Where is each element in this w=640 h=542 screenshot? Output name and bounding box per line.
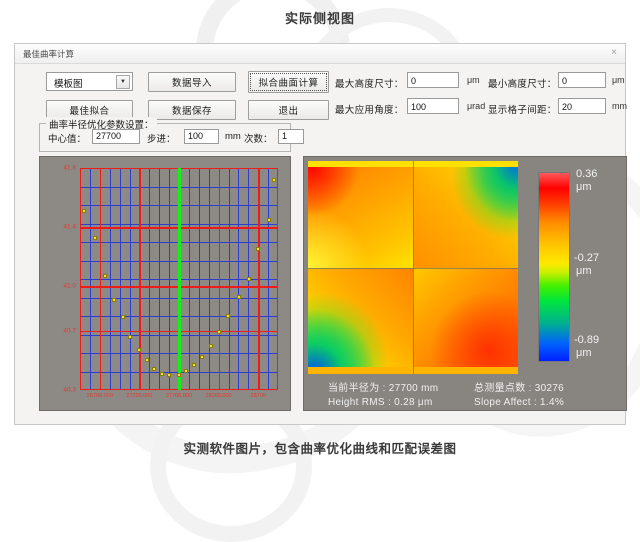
status-current-radius: 当前半径为 : 27700 mm (328, 379, 438, 394)
chart-data-point (184, 369, 188, 373)
chart-data-point (167, 373, 171, 377)
data-save-button[interactable]: 数据保存 (148, 100, 236, 120)
heatmap-quadrant-bottom-left (308, 268, 413, 375)
heatmap-horizontal-axis-line (308, 268, 518, 269)
chart-data-point (137, 348, 141, 352)
step-label: 步进： (147, 131, 176, 145)
grid-spacing-label: 显示格子间距： (488, 102, 557, 116)
y-axis-tick-label: 41.8 (63, 165, 76, 172)
toolbar: 模板图 ▼ 最佳拟合 数据导入 数据保存 拟合曲面计算 退出 最大高度尺寸： 0… (15, 64, 625, 119)
error-heatmap[interactable] (308, 161, 518, 374)
figure-caption: 实测软件图片，包含曲率优化曲线和匹配误差图 (0, 438, 640, 457)
chart-data-point (93, 236, 97, 240)
chart-data-point (256, 247, 260, 251)
chart-data-point (112, 298, 116, 302)
chart-data-point (177, 373, 181, 377)
chart-data-point (103, 274, 107, 278)
y-axis-tick-label: 40.7 (63, 327, 76, 334)
chart-data-point (237, 295, 241, 299)
max-height-unit: μm (467, 75, 480, 85)
status-slope-affect: Slope Affect : 1.4% (474, 397, 564, 408)
template-select-value: 模板图 (54, 76, 83, 90)
grid-spacing-input[interactable]: 20 (558, 98, 606, 114)
status-height-rms: Height RMS : 0.28 μm (328, 397, 433, 408)
colorbar-max-label: 0.36 (576, 168, 597, 181)
window-titlebar: 最佳曲率计算 × (15, 44, 625, 64)
heatmap-quadrant-top-left (308, 161, 413, 268)
chart-data-point (267, 218, 271, 222)
step-unit: mm (225, 131, 241, 142)
template-select[interactable]: 模板图 ▼ (46, 72, 133, 91)
y-axis-tick-label: 40.3 (63, 387, 76, 394)
chart-plot-area (80, 168, 278, 390)
max-height-input[interactable]: 0 (407, 72, 459, 88)
colorbar-mid-label: -0.27 (574, 252, 599, 265)
x-axis-tick-label: 27200.000 (126, 393, 152, 399)
min-height-unit: μm (612, 75, 625, 85)
count-input[interactable]: 1 (278, 129, 304, 144)
exit-button[interactable]: 退出 (248, 100, 329, 120)
y-axis-tick-label: 41.4 (63, 224, 76, 231)
step-input[interactable]: 100 (184, 129, 219, 144)
chart-data-point (121, 315, 125, 319)
error-map-panel: 0.36 μm -0.27 μm -0.89 μm 当前半径为 : 27700 … (303, 156, 627, 411)
heatmap-quadrant-bottom-right (413, 268, 518, 375)
x-axis-tick-label: 28200.000 (206, 393, 232, 399)
chart-data-point (209, 344, 213, 348)
chart-data-point (192, 363, 196, 367)
colorbar-min-label: -0.89 (574, 334, 599, 347)
x-axis-tick-label: 28700 (251, 393, 266, 399)
heatmap-quadrant-top-right (413, 161, 518, 268)
chart-data-point (82, 209, 86, 213)
max-angle-input[interactable]: 100 (407, 98, 459, 114)
chevron-down-icon: ▼ (116, 75, 130, 89)
chart-data-point (217, 330, 221, 334)
data-import-button[interactable]: 数据导入 (148, 72, 236, 92)
x-axis-tick-label: 26700.000 (87, 393, 113, 399)
y-axis-tick-label: 41.0 (63, 283, 76, 290)
x-axis-tick-label: 27700.000 (166, 393, 192, 399)
chart-data-point (152, 367, 156, 371)
curvature-optimization-chart[interactable]: 41.841.441.040.740.3 26700.00027200.0002… (39, 156, 291, 411)
colorbar-min-unit: μm (576, 347, 592, 360)
colorbar (538, 172, 570, 362)
chart-data-point (272, 178, 276, 182)
grid-spacing-unit: mm (612, 101, 627, 111)
colorbar-max-unit: μm (576, 181, 592, 194)
application-window: 最佳曲率计算 × 模板图 ▼ 最佳拟合 数据导入 数据保存 拟合曲面计算 退出 … (14, 43, 626, 425)
center-value-input[interactable]: 27700 (92, 129, 140, 144)
chart-data-point (226, 314, 230, 318)
count-label: 次数： (244, 131, 273, 145)
status-total-points: 总测量点数 : 30276 (474, 379, 564, 394)
max-height-label: 最大高度尺寸： (335, 76, 404, 90)
cursor-line[interactable] (178, 168, 181, 390)
window-title: 最佳曲率计算 (23, 48, 74, 60)
surface-fit-calc-button[interactable]: 拟合曲面计算 (248, 71, 329, 93)
status-area: 当前半径为 : 27700 mm 总测量点数 : 30276 Height RM… (304, 379, 626, 413)
min-height-input[interactable]: 0 (558, 72, 606, 88)
chart-data-point (160, 372, 164, 376)
min-height-label: 最小高度尺寸： (488, 76, 557, 90)
page-title: 实际侧视图 (0, 8, 640, 27)
chart-data-point (145, 358, 149, 362)
chart-data-point (128, 335, 132, 339)
chart-data-point (200, 355, 204, 359)
chart-data-point (247, 277, 251, 281)
colorbar-mid-unit: μm (576, 265, 592, 278)
max-angle-label: 最大应用角度： (335, 102, 404, 116)
center-value-label: 中心值： (48, 131, 86, 145)
max-angle-unit: μrad (467, 101, 485, 111)
close-icon[interactable]: × (607, 46, 621, 60)
curvature-param-groupbox: 曲率半径优化参数设置： 中心值： 27700 步进： 100 mm 次数： 1 (39, 123, 291, 152)
